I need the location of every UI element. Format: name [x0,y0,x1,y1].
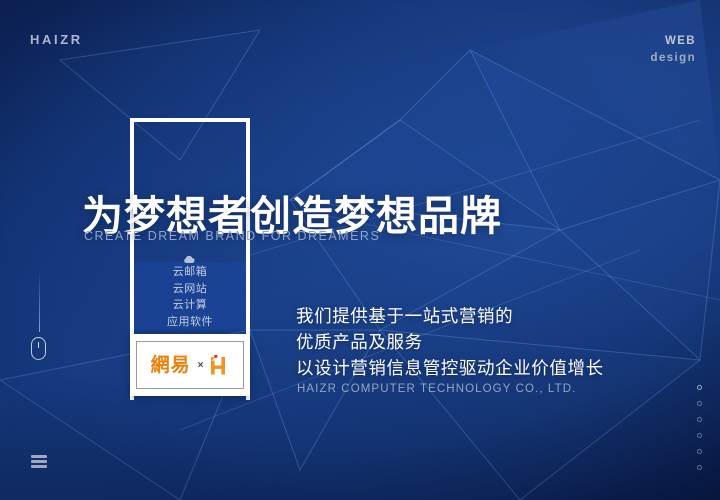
hero-slide: HAIZR WEB design 为梦想者创造梦想品牌 CREATE DREAM… [0,0,720,500]
pagination-dot-1[interactable] [697,401,702,406]
body-copy: 我们提供基于一站式营销的 优质产品及服务 以设计营销信息管控驱动企业价值增长 [296,303,604,381]
company-name: HAIZR COMPUTER TECHNOLOGY CO., LTD. [297,383,576,395]
pagination-dot-2[interactable] [697,417,702,422]
pagination-dot-5[interactable] [697,465,702,470]
body-copy-line-2: 以设计营销信息管控驱动企业价值增长 [296,355,604,381]
page-subtitle: CREATE DREAM BRAND FOR DREAMERS [84,229,380,243]
hamburger-bar-3 [31,465,47,468]
slide-pagination[interactable] [697,385,702,470]
mini-nav-item-1[interactable]: 云网站 [130,281,250,298]
low-poly-background [0,0,720,500]
mouse-scroll-icon[interactable] [31,337,46,360]
partner-logo-card-inner: 網易 × [136,341,244,389]
partner-logo-card[interactable]: 網易 × [130,334,250,396]
mouse-wheel-icon [38,342,40,348]
header-tagline: WEB design [651,33,696,68]
mini-nav-item-0[interactable]: 云邮箱 [130,264,250,281]
vignette-overlay [0,0,720,500]
body-copy-line-1: 优质产品及服务 [296,329,604,355]
hamburger-bar-2 [31,460,47,463]
haizr-h-mark-icon [210,355,229,376]
pagination-dot-4[interactable] [697,449,702,454]
header-tagline-line2: design [651,50,696,67]
mini-nav-item-2[interactable]: 云计算 [130,297,250,314]
netease-logo: 網易 [151,356,191,375]
mini-nav-list: 云邮箱 云网站 云计算 应用软件 [130,264,250,330]
hamburger-bar-1 [31,455,47,458]
mini-nav-item-3[interactable]: 应用软件 [130,314,250,331]
body-copy-line-0: 我们提供基于一站式营销的 [296,303,604,329]
pagination-dot-0[interactable] [697,385,702,390]
hamburger-menu-icon[interactable] [31,455,47,468]
header-tagline-line1: WEB [651,33,696,50]
pagination-dot-3[interactable] [697,433,702,438]
brand-logo[interactable]: HAIZR [30,32,83,47]
cloud-icon [183,252,195,263]
scroll-connector-line [39,270,40,332]
logo-separator-icon: × [198,360,204,371]
